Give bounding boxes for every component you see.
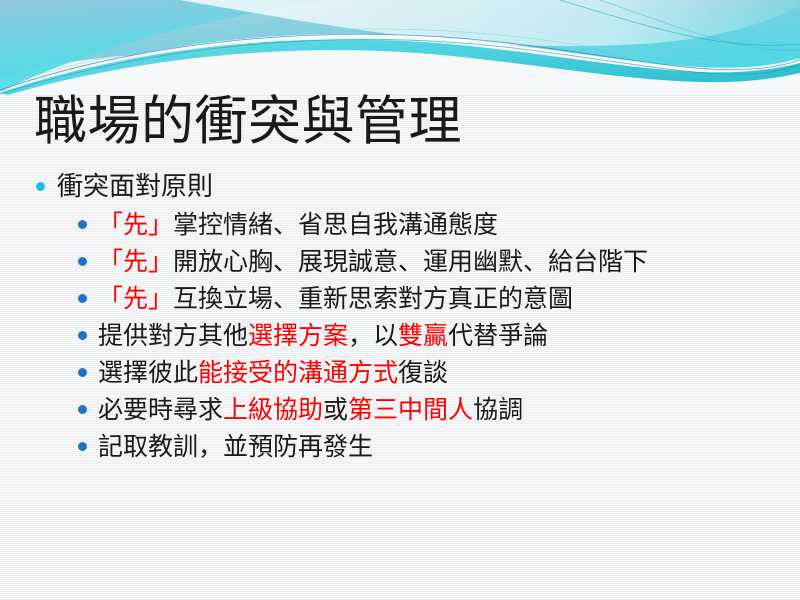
bullet-level2: 「先」開放心胸、展現誠意、運用幽默、給台階下 [36, 244, 776, 281]
bullet-dot-icon [36, 182, 45, 191]
bullet-level2: 記取教訓，並預防再發生 [36, 429, 776, 466]
bullet-dot-icon [78, 442, 87, 451]
bullet-text: 提供對方其他選擇方案，以雙贏代替爭論 [98, 318, 548, 354]
slide-body-bullet-list: 衝突面對原則「先」掌控情緒、省思自我溝通態度「先」開放心胸、展現誠意、運用幽默、… [36, 170, 776, 466]
slide-title: 職場的衝突與管理 [34, 92, 764, 151]
bullet-text-highlight: 能接受的溝通方式 [198, 358, 398, 387]
bullet-text-highlight: 「先」 [98, 247, 173, 276]
bullet-text-highlight: 「先」 [98, 284, 173, 313]
bullet-text-highlight: 第三中間人 [348, 395, 473, 424]
bullet-level2: 選擇彼此能接受的溝通方式復談 [36, 355, 776, 392]
bullet-level2: 提供對方其他選擇方案，以雙贏代替爭論 [36, 318, 776, 355]
bullet-text-highlight: 上級協助 [223, 395, 323, 424]
bullet-text: 必要時尋求上級協助或第三中間人協調 [98, 392, 523, 428]
bullet-text-run: 或 [323, 395, 348, 424]
presentation-slide: 職場的衝突與管理 衝突面對原則「先」掌控情緒、省思自我溝通態度「先」開放心胸、展… [0, 0, 800, 600]
bullet-text-run: 選擇彼此 [98, 358, 198, 387]
bullet-text-run: 代替爭論 [448, 321, 548, 350]
bullet-text-highlight: 雙贏 [398, 321, 448, 350]
bullet-text: 記取教訓，並預防再發生 [98, 429, 373, 465]
bullet-text: 「先」掌控情緒、省思自我溝通態度 [98, 207, 498, 243]
wave-banner-graphic [0, 0, 800, 95]
bullet-text-run: 開放心胸、展現誠意、運用幽默、給台階下 [173, 247, 648, 276]
bullet-level2: 必要時尋求上級協助或第三中間人協調 [36, 392, 776, 429]
bullet-level2: 「先」掌控情緒、省思自我溝通態度 [36, 207, 776, 244]
bullet-text-highlight: 「先」 [98, 210, 173, 239]
bullet-text: 「先」互換立場、重新思索對方真正的意圖 [98, 281, 573, 317]
bullet-dot-icon [78, 294, 87, 303]
bullet-text-run: 協調 [473, 395, 523, 424]
bullet-dot-icon [78, 257, 87, 266]
bullet-text-run: 必要時尋求 [98, 395, 223, 424]
bullet-text-run: ，以 [348, 321, 398, 350]
bullet-text-run: 復談 [398, 358, 448, 387]
bullet-dot-icon [78, 368, 87, 377]
bullet-dot-icon [78, 405, 87, 414]
bullet-dot-icon [78, 331, 87, 340]
bullet-text-run: 記取教訓，並預防再發生 [98, 432, 373, 461]
bullet-text: 「先」開放心胸、展現誠意、運用幽默、給台階下 [98, 244, 648, 280]
bullet-level1: 衝突面對原則 [36, 170, 776, 204]
bullet-dot-icon [78, 220, 87, 229]
bullet-text: 選擇彼此能接受的溝通方式復談 [98, 355, 448, 391]
bullet-text-run: 互換立場、重新思索對方真正的意圖 [173, 284, 573, 313]
bullet-text-run: 掌控情緒、省思自我溝通態度 [173, 210, 498, 239]
bullet-level2: 「先」互換立場、重新思索對方真正的意圖 [36, 281, 776, 318]
bullet-text-run: 提供對方其他 [98, 321, 248, 350]
bullet-sublist: 「先」掌控情緒、省思自我溝通態度「先」開放心胸、展現誠意、運用幽默、給台階下「先… [36, 207, 776, 466]
bullet-text-run: 衝突面對原則 [57, 172, 213, 202]
bullet-text: 衝突面對原則 [57, 170, 213, 204]
bullet-text-highlight: 選擇方案 [248, 321, 348, 350]
